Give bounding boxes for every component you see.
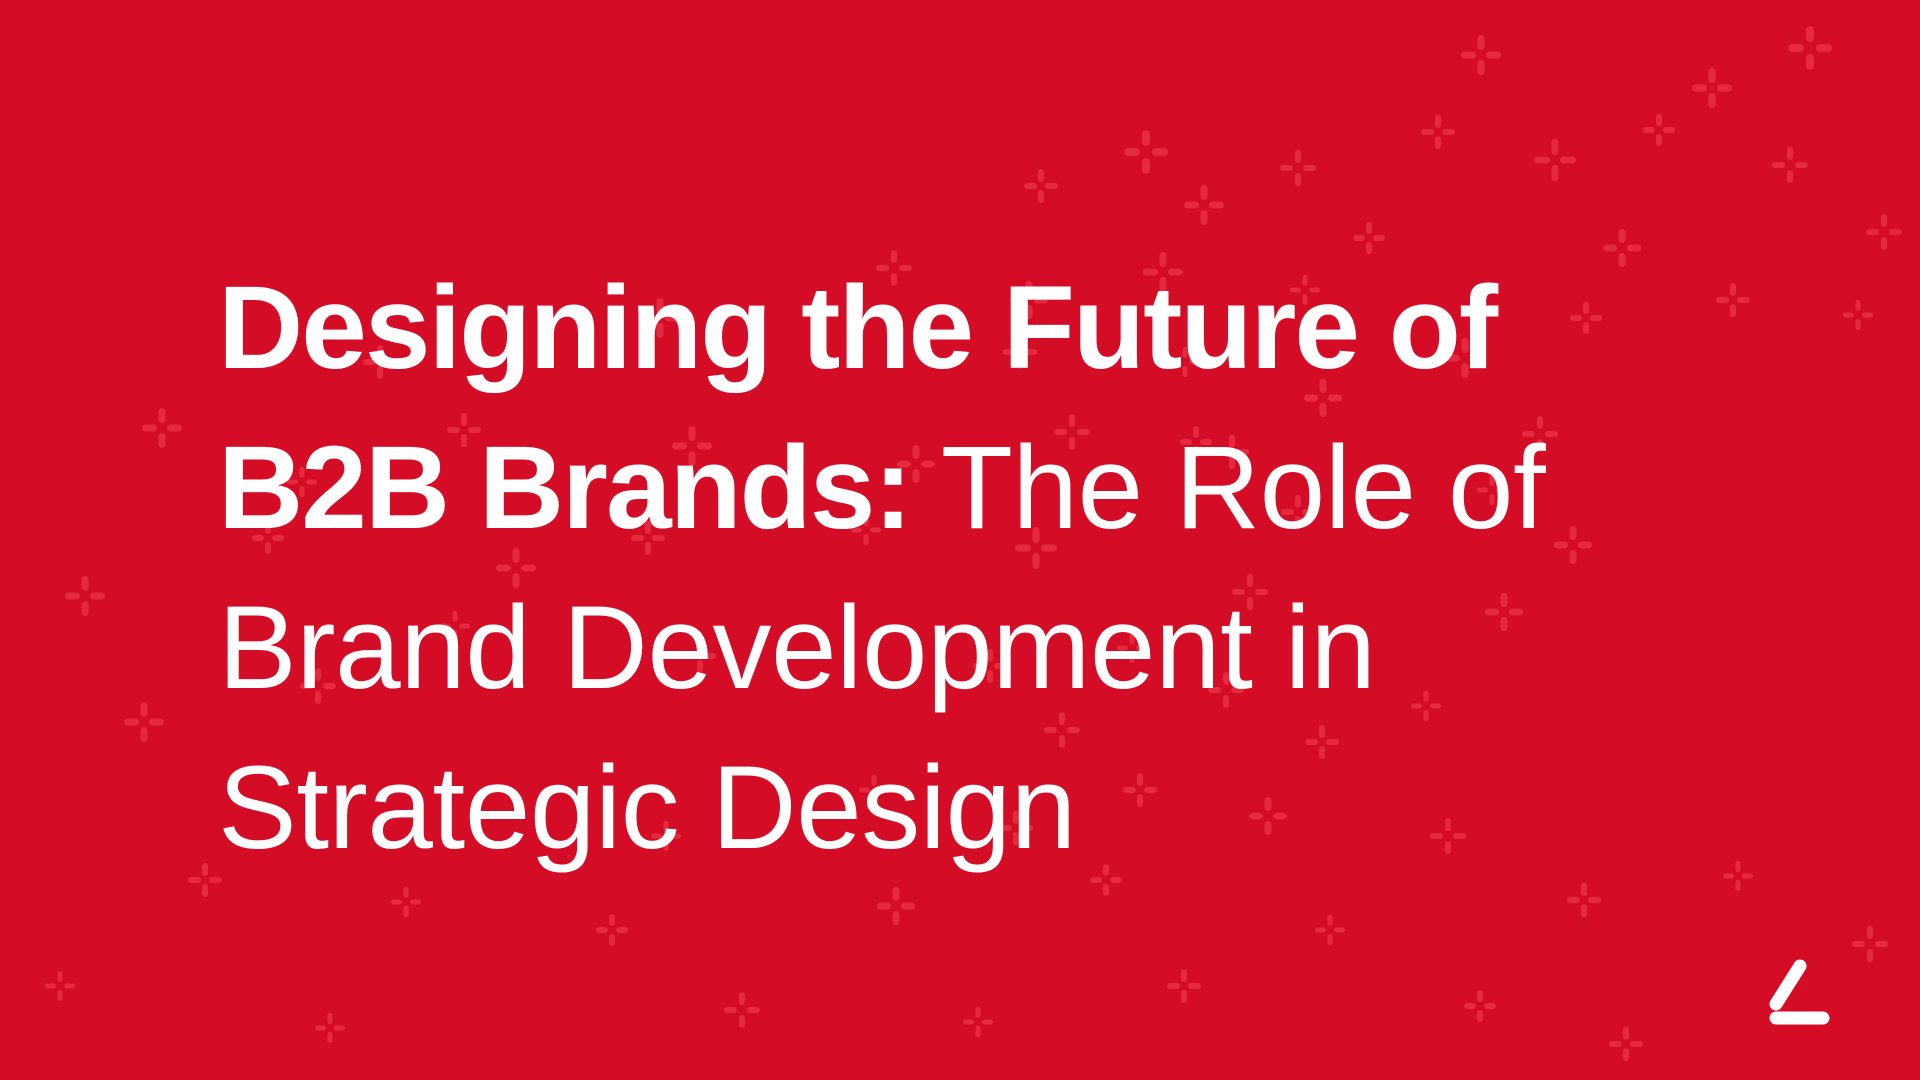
plus-mark [45,971,75,1001]
plus-mark [963,1007,993,1037]
plus-mark [1461,35,1501,75]
plus-mark [1024,169,1058,203]
plus-mark [1184,185,1224,225]
plus-mark [142,408,182,448]
plus-mark [1280,150,1316,186]
plus-mark [1772,147,1808,183]
plus-mark [1534,139,1576,181]
plus-mark [124,702,164,742]
plus-mark [1464,990,1496,1022]
plus-mark [1567,883,1601,917]
plus-mark [1167,969,1201,1003]
plus-mark [1643,114,1675,146]
plus-mark [1866,214,1902,250]
plus-mark [877,887,915,925]
plus-mark [596,914,628,946]
plus-mark [1315,915,1345,945]
slide-canvas: Designing the Future of B2B Brands: The … [0,0,1920,1080]
angle-mark-logo-icon [1762,956,1854,1028]
plus-mark [1716,283,1750,317]
plus-mark [724,992,760,1028]
page-title: Designing the Future of B2B Brands: The … [218,248,1648,888]
plus-mark [1788,26,1832,70]
plus-mark [65,576,105,616]
plus-mark [315,1013,345,1043]
plus-mark [188,863,222,897]
plus-mark [1692,68,1732,108]
plus-mark [1421,115,1455,149]
plus-mark [391,887,421,917]
plus-mark [1852,926,1888,962]
plus-mark [1609,1027,1643,1061]
plus-mark [1124,130,1168,174]
plus-mark [1843,300,1873,330]
plus-mark [1723,861,1753,891]
angle-mark-logo[interactable] [1762,956,1854,1028]
